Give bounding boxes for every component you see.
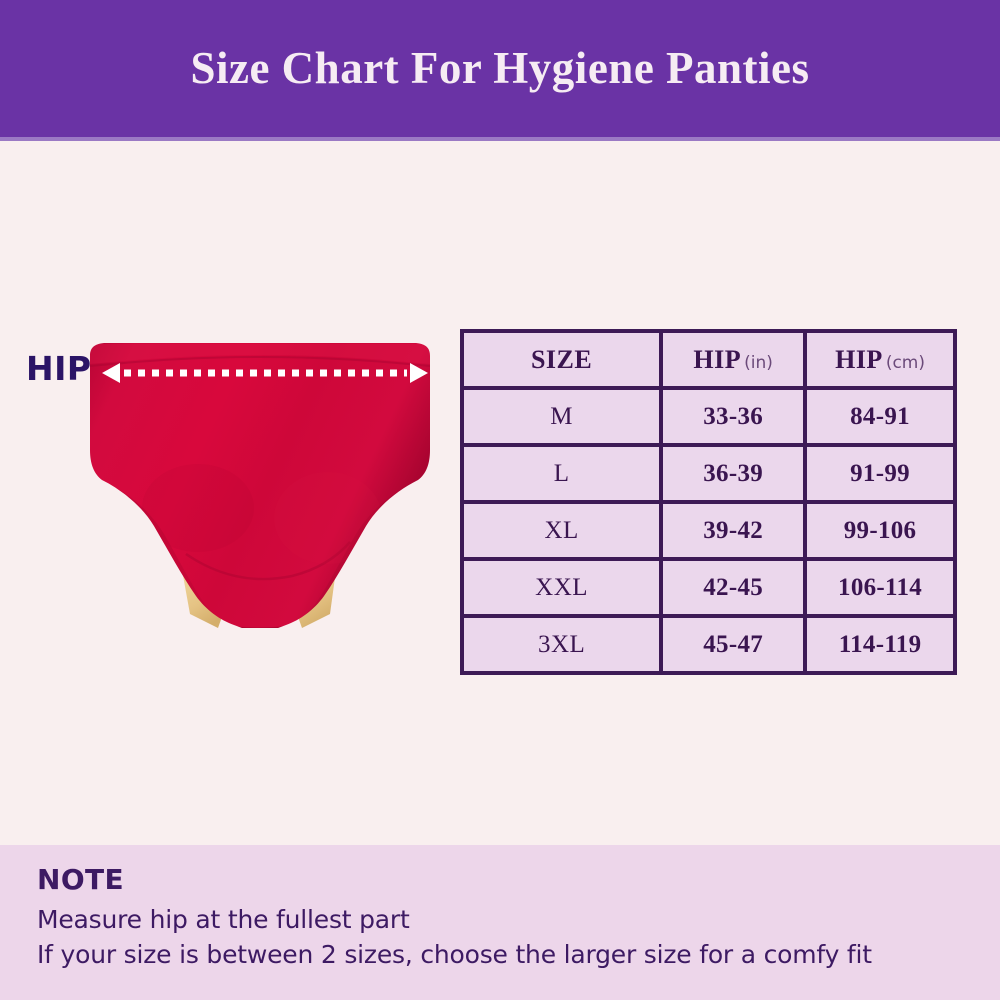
cell-hip-in: 42-45 — [663, 561, 807, 618]
note-heading: NOTE — [37, 865, 980, 896]
cell-size: XXL — [464, 561, 663, 618]
table-row: XXL 42-45 106-114 — [464, 561, 953, 618]
size-chart-page: Size Chart For Hygiene Panties HIP — [0, 0, 1000, 1000]
table-header-row: SIZE HIP(in) HIP(cm) — [464, 333, 953, 390]
table-row: 3XL 45-47 114-119 — [464, 618, 953, 671]
header-label-size: SIZE — [531, 345, 592, 374]
size-chart-table: SIZE HIP(in) HIP(cm) M 33-36 84-91 L — [460, 329, 957, 675]
cell-hip-cm: 99-106 — [807, 504, 953, 561]
cell-hip-in: 39-42 — [663, 504, 807, 561]
page-title: Size Chart For Hygiene Panties — [170, 46, 829, 91]
note-line-2: If your size is between 2 sizes, choose … — [37, 937, 980, 973]
header-banner: Size Chart For Hygiene Panties — [0, 0, 1000, 137]
panty-body — [90, 343, 430, 628]
cell-hip-cm: 84-91 — [807, 390, 953, 447]
cell-hip-in: 45-47 — [663, 618, 807, 671]
cell-size: M — [464, 390, 663, 447]
cell-size: 3XL — [464, 618, 663, 671]
header-cell-hip-in: HIP(in) — [663, 333, 807, 390]
panty-graphic — [78, 338, 442, 650]
cell-size: L — [464, 447, 663, 504]
header-cell-hip-cm: HIP(cm) — [807, 333, 953, 390]
table-row: XL 39-42 99-106 — [464, 504, 953, 561]
cell-hip-in: 36-39 — [663, 447, 807, 504]
size-table-container: SIZE HIP(in) HIP(cm) M 33-36 84-91 L — [460, 329, 957, 654]
cell-hip-cm: 114-119 — [807, 618, 953, 671]
header-unit-cm: (cm) — [883, 353, 925, 373]
header-label-hip-in: HIP — [693, 345, 741, 374]
table-row: M 33-36 84-91 — [464, 390, 953, 447]
cell-hip-in: 33-36 — [663, 390, 807, 447]
cell-size: XL — [464, 504, 663, 561]
table-row: L 36-39 91-99 — [464, 447, 953, 504]
garment-illustration — [78, 338, 442, 650]
header-label-hip-cm: HIP — [835, 345, 883, 374]
note-section: NOTE Measure hip at the fullest part If … — [0, 845, 1000, 1000]
header-unit-in: (in) — [741, 353, 773, 373]
cell-hip-cm: 91-99 — [807, 447, 953, 504]
note-content: NOTE Measure hip at the fullest part If … — [37, 865, 980, 973]
header-cell-size: SIZE — [464, 333, 663, 390]
note-line-1: Measure hip at the fullest part — [37, 902, 980, 938]
cell-hip-cm: 106-114 — [807, 561, 953, 618]
